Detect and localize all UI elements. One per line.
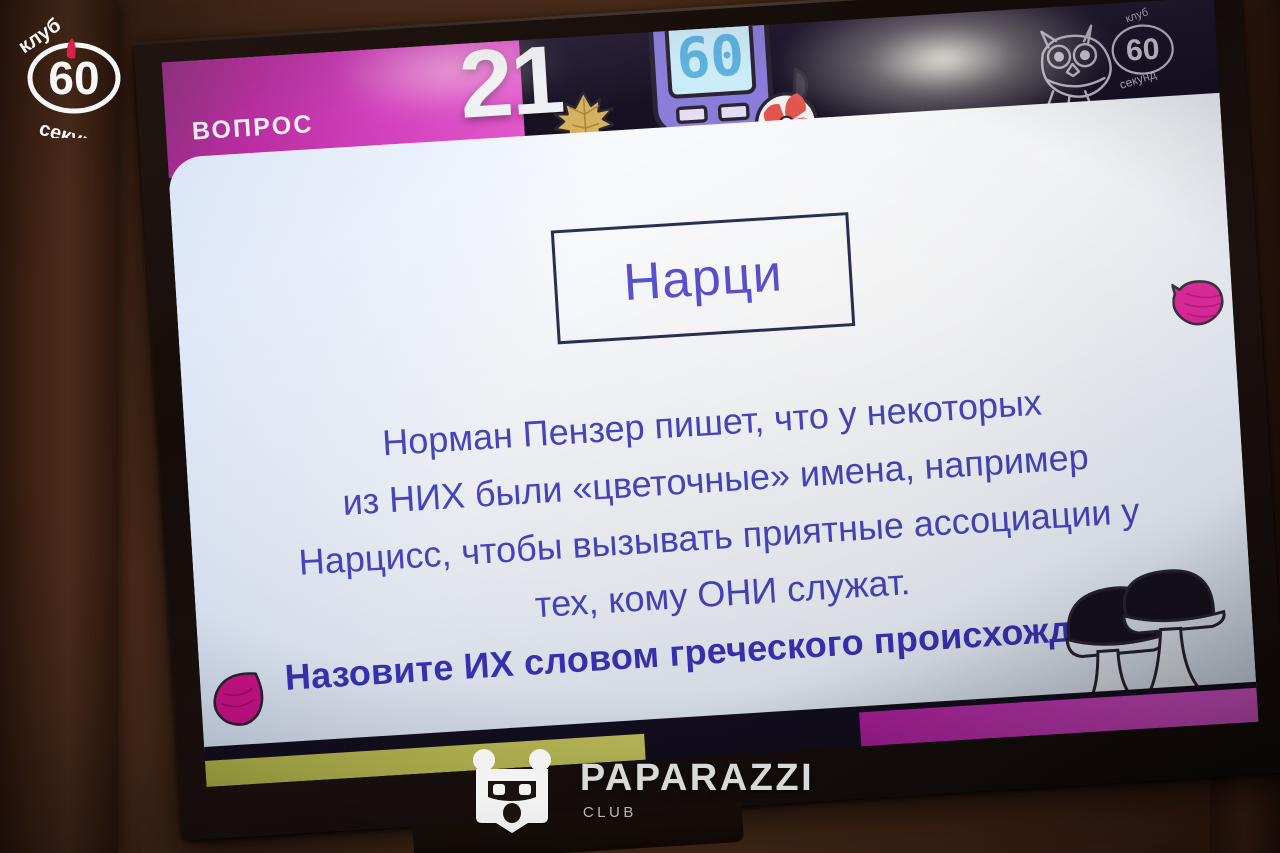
logo-accent-mark xyxy=(67,38,76,59)
logo-number-60: 60 xyxy=(48,52,99,104)
photo-scene: 60 клуб секунд ВОПРОС 21 xyxy=(0,0,1280,853)
klub-60-sekund-logo-icon: клуб секунд 60 xyxy=(14,12,138,138)
logo-word-sekund: секунд xyxy=(37,118,109,138)
wall-vignette xyxy=(0,0,1280,853)
